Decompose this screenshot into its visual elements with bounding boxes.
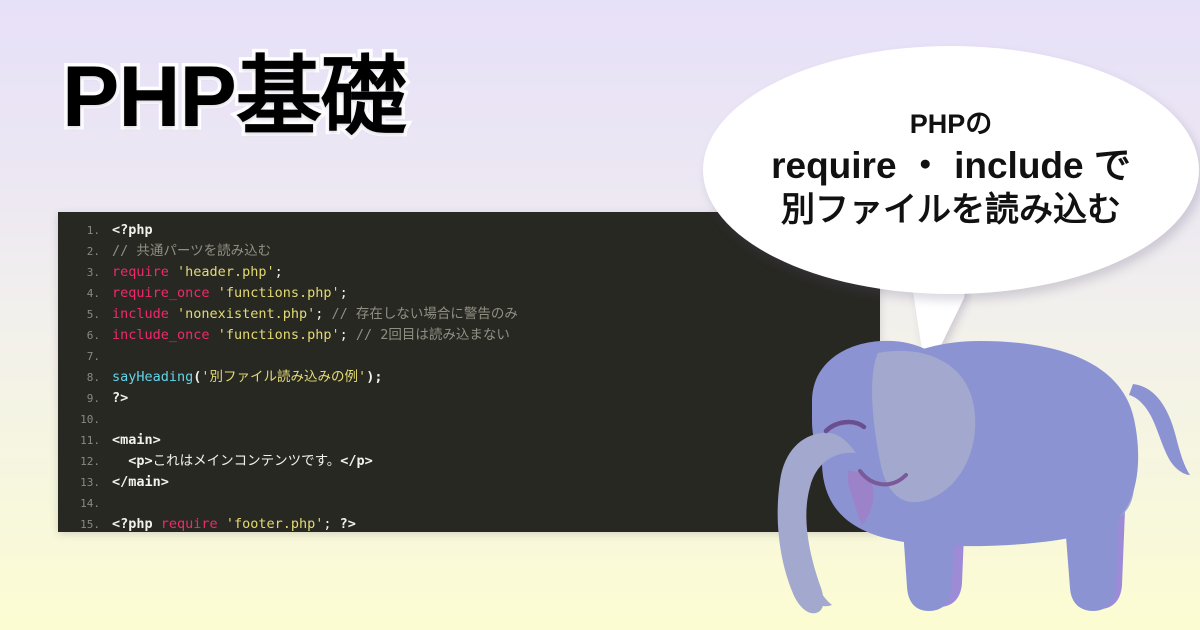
code-line: 5.include 'nonexistent.php'; // 存在しない場合に… — [58, 304, 880, 325]
code-token — [218, 516, 226, 532]
code-line-number: 11. — [58, 430, 112, 451]
code-token: 'nonexistent.php' — [177, 306, 315, 322]
code-line-number: 13. — [58, 472, 112, 493]
speech-bubble-text: PHPの require ・ include で 別ファイルを読み込む — [745, 107, 1157, 232]
code-token: require — [112, 264, 169, 280]
code-token: require — [161, 516, 218, 532]
elephant-body-group — [778, 341, 1190, 613]
code-token — [210, 285, 218, 301]
code-token: // 2回目は読み込まない — [356, 327, 510, 343]
code-token: これはメインコンテンツです。 — [153, 453, 341, 469]
code-token: </main> — [112, 474, 169, 490]
bubble-line-2: require ・ include で — [771, 142, 1131, 189]
code-token: <p> — [112, 453, 153, 469]
code-token: <?php — [112, 516, 161, 532]
code-token: 'header.php' — [177, 264, 275, 280]
speech-bubble: PHPの require ・ include で 別ファイルを読み込む — [703, 46, 1199, 294]
code-token: ?> — [112, 390, 128, 406]
code-line-number: 12. — [58, 451, 112, 472]
code-line-number: 2. — [58, 241, 112, 262]
code-line-number: 14. — [58, 493, 112, 514]
code-token: 'functions.php' — [218, 285, 340, 301]
code-token: <?php — [112, 222, 153, 238]
bubble-line-1: PHPの — [771, 107, 1131, 142]
code-line: 4.require_once 'functions.php'; — [58, 283, 880, 304]
code-token: include_once — [112, 327, 210, 343]
code-token: ; — [340, 285, 348, 301]
code-token: ; — [275, 264, 283, 280]
code-token — [169, 306, 177, 322]
code-token: ; — [323, 516, 339, 532]
code-line-number: 4. — [58, 283, 112, 304]
code-line-number: 3. — [58, 262, 112, 283]
elephant-tail — [1129, 384, 1190, 475]
code-token — [210, 327, 218, 343]
code-line-number: 9. — [58, 388, 112, 409]
code-token: 'footer.php' — [226, 516, 324, 532]
code-token — [169, 264, 177, 280]
code-token: require_once — [112, 285, 210, 301]
code-line-text: include 'nonexistent.php'; // 存在しない場合に警告… — [112, 304, 880, 325]
code-line-number: 10. — [58, 409, 112, 430]
code-token: sayHeading — [112, 369, 193, 385]
code-line-number: 8. — [58, 367, 112, 388]
code-line-text: require 'header.php'; — [112, 262, 880, 283]
code-token: 'functions.php' — [218, 327, 340, 343]
code-token: <main> — [112, 432, 161, 448]
code-line-number: 7. — [58, 346, 112, 367]
code-token: ; — [315, 306, 331, 322]
code-line-number: 6. — [58, 325, 112, 346]
code-token: ); — [366, 369, 382, 385]
code-line: 3.require 'header.php'; — [58, 262, 880, 283]
code-token: // 存在しない場合に警告のみ — [331, 306, 517, 322]
code-line-number: 15. — [58, 514, 112, 532]
code-token: // 共通パーツを読み込む — [112, 243, 271, 259]
code-token: include — [112, 306, 169, 322]
code-token: ; — [340, 327, 356, 343]
code-token: '別ファイル読み込みの例' — [201, 369, 366, 385]
bubble-line-3: 別ファイルを読み込む — [771, 189, 1131, 233]
code-line-text: require_once 'functions.php'; — [112, 283, 880, 304]
page-title: PHP基礎 — [62, 48, 406, 147]
code-line-number: 5. — [58, 304, 112, 325]
elephpant-mascot-icon — [740, 335, 1200, 630]
code-token: </p> — [340, 453, 373, 469]
code-token: ?> — [340, 516, 356, 532]
code-line-number: 1. — [58, 220, 112, 241]
